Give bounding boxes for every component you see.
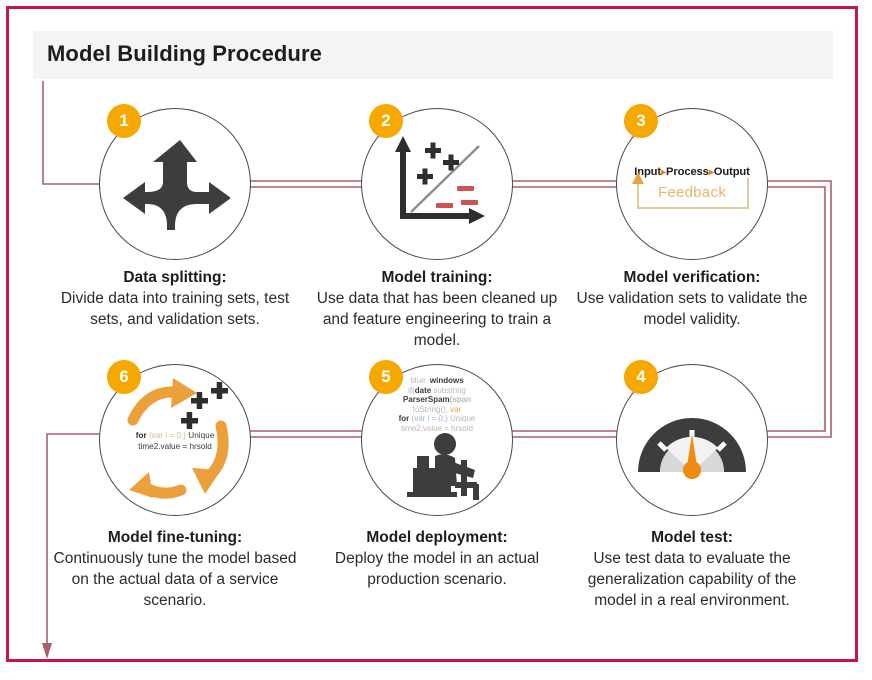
- step-node-5[interactable]: 5 blue. windows if(date substring Parser…: [361, 364, 513, 516]
- step-badge-6: 6: [107, 360, 141, 394]
- step-title-2: Model training:: [314, 267, 560, 288]
- step-caption-2: Model training: Use data that has been c…: [314, 267, 560, 351]
- feedback-label: Feedback: [658, 184, 726, 201]
- step-caption-6: Model fine-tuning: Continuously tune the…: [52, 527, 298, 611]
- step-title-3: Model verification:: [569, 267, 815, 288]
- step-body-1: Divide data into training sets, test set…: [52, 288, 298, 330]
- diagram-frame: Model Building Procedure: [6, 6, 858, 662]
- step-badge-1: 1: [107, 104, 141, 138]
- step-title-1: Data splitting:: [52, 267, 298, 288]
- step-caption-5: Model deployment: Deploy the model in an…: [314, 527, 560, 590]
- step-node-6[interactable]: 6: [99, 364, 251, 516]
- step-body-2: Use data that has been cleaned up and fe…: [314, 288, 560, 351]
- step-body-6: Continuously tune the model based on the…: [52, 548, 298, 611]
- step-badge-5: 5: [369, 360, 403, 394]
- step-badge-2: 2: [369, 104, 403, 138]
- step-body-5: Deploy the model in an actual production…: [314, 548, 560, 590]
- step-title-6: Model fine-tuning:: [52, 527, 298, 548]
- step-body-3: Use validation sets to validate the mode…: [569, 288, 815, 330]
- step-badge-4: 4: [624, 360, 658, 394]
- step-node-2[interactable]: 2: [361, 108, 513, 260]
- step6-code-block: for (var i = 0;) Unique time2.value = hr…: [99, 430, 251, 452]
- step-caption-3: Model verification: Use validation sets …: [569, 267, 815, 330]
- step-title-5: Model deployment:: [314, 527, 560, 548]
- step-node-3[interactable]: 3 Input▸Process▸Output Feedback: [616, 108, 768, 260]
- step-caption-4: Model test: Use test data to evaluate th…: [569, 527, 815, 611]
- step-title-4: Model test:: [569, 527, 815, 548]
- step-caption-1: Data splitting: Divide data into trainin…: [52, 267, 298, 330]
- step-node-1[interactable]: 1: [99, 108, 251, 260]
- step-node-4[interactable]: 4: [616, 364, 768, 516]
- step-badge-3: 3: [624, 104, 658, 138]
- exit-arrowhead: [42, 643, 52, 659]
- step-body-4: Use test data to evaluate the generaliza…: [569, 548, 815, 611]
